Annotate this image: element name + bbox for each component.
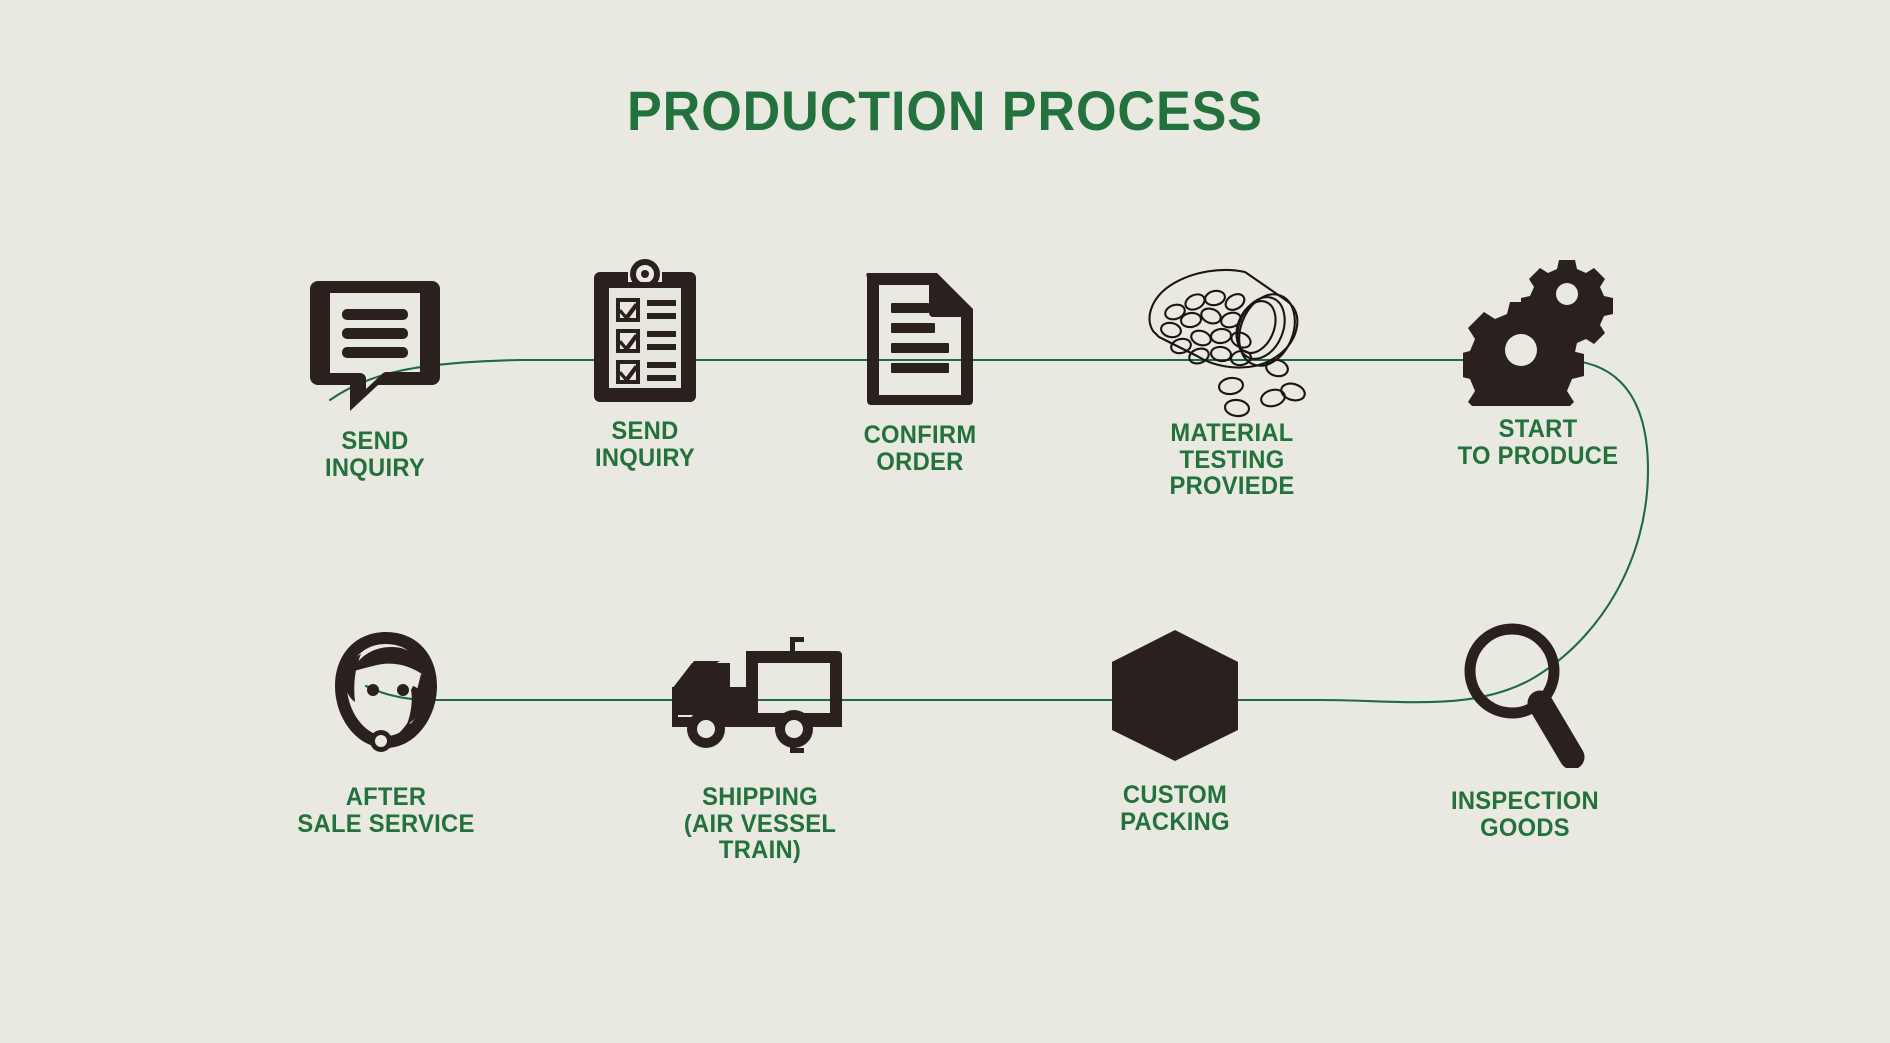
- document-icon: [800, 262, 1040, 412]
- clipboard-checklist-icon: [525, 258, 765, 408]
- speech-bubble-icon: [255, 268, 495, 418]
- step-confirm-order: CONFIRM ORDER: [800, 262, 1040, 475]
- step-label: CONFIRM ORDER: [806, 422, 1034, 475]
- process-flow-connector: [0, 0, 1890, 1043]
- step-shipping: SHIPPING (AIR VESSEL TRAIN): [640, 620, 880, 864]
- step-label: CUSTOM PACKING: [1061, 782, 1289, 835]
- step-label: AFTER SALE SERVICE: [272, 784, 500, 837]
- step-material-testing: MATERIAL TESTING PROVIEDE: [1112, 258, 1352, 500]
- step-send-inquiry-bubble: SEND INQUIRY: [255, 268, 495, 481]
- step-inspection-goods: INSPECTION GOODS: [1405, 620, 1645, 841]
- step-label: SHIPPING (AIR VESSEL TRAIN): [646, 784, 874, 864]
- package-box-icon: [1055, 620, 1295, 770]
- step-label: SEND INQUIRY: [261, 428, 489, 481]
- magnifying-glass-icon: [1405, 620, 1645, 770]
- step-label: START TO PRODUCE: [1424, 416, 1652, 469]
- support-agent-headset-icon: [266, 620, 506, 770]
- delivery-truck-icon: [640, 620, 880, 770]
- page-title: PRODUCTION PROCESS: [66, 78, 1824, 143]
- step-label: MATERIAL TESTING PROVIEDE: [1118, 420, 1346, 500]
- step-after-sale-service: AFTER SALE SERVICE: [266, 620, 506, 837]
- pill-jar-icon: [1112, 258, 1352, 418]
- step-start-to-produce: START TO PRODUCE: [1418, 256, 1658, 469]
- step-label: SEND INQUIRY: [531, 418, 759, 471]
- gears-icon: [1418, 256, 1658, 406]
- step-label: INSPECTION GOODS: [1411, 788, 1639, 841]
- step-custom-packing: CUSTOM PACKING: [1055, 620, 1295, 835]
- step-send-inquiry-clipboard: SEND INQUIRY: [525, 258, 765, 471]
- production-process-infographic: PRODUCTION PROCESS SEND INQUIRY: [0, 0, 1890, 1043]
